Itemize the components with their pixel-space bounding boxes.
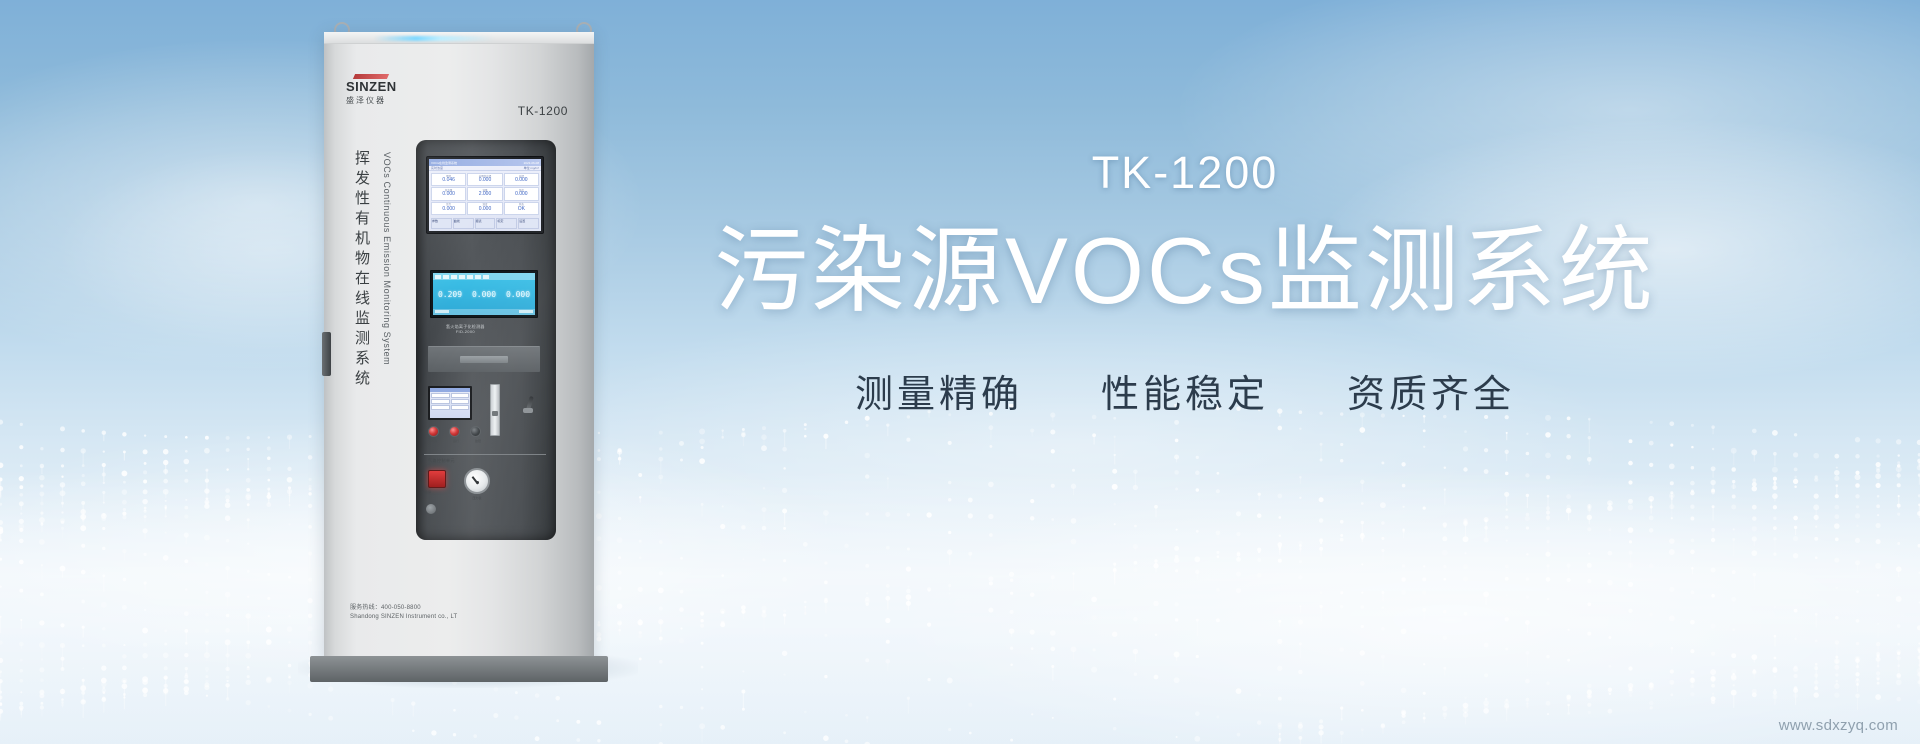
cabinet-footer-text: 服务热线：400-050-8800 Shandong SINZEN Instru… [350,604,457,622]
lamp-label-1: 电源 [426,439,442,443]
indicator-lamp-row [428,426,481,437]
lcd-value-1: 0.209 [438,290,462,299]
company-name-en: Shandong SINZEN Instrument co., LT [350,613,457,622]
pressure-gauge-label: 压力表 [464,496,490,500]
power-indicator-lamp [428,426,439,437]
pressure-gauge [464,468,490,494]
panel-divider [424,454,546,455]
hmi-readout-cell-4: 氧含量0.000 [431,187,466,200]
lamp-label-2: 运行 [448,439,464,443]
run-indicator-lamp [449,426,460,437]
indicator-lamp-labels: 电源运行故障 [426,439,516,443]
hmi-readout-grid: 甲烷0.046非甲烷总烃0.000总烃0.000氧含量0.000流量2.000温… [429,171,541,217]
lamp-label-3: 故障 [470,439,486,443]
hmi-button-5: 设置 [518,218,539,229]
hmi-title-text: VOCs在线监测系统 [431,161,457,165]
fault-indicator-lamp [470,426,481,437]
cabinet-base-plinth [310,656,608,682]
feature-item-1: 测量精确 [855,363,1023,418]
hmi-button-4: 标定 [496,218,517,229]
control-panel: 电源运行故障 气路控制单元 急停 压力表 [424,382,546,524]
rotameter-flowmeter [490,384,500,436]
lcd-value-3: 0.000 [506,290,530,299]
lcd-value-2: 0.000 [472,290,496,299]
hmi-readout-cell-5: 流量2.000 [467,187,502,200]
banner-copy: TK-1200 污染源VOCs监测系统 测量精确性能稳定资质齐全 [660,150,1710,418]
cabinet-model-plate: TK-1200 [518,104,568,118]
hmi-sub-right: 单位 mg/m³ [524,166,539,170]
site-watermark: www.sdxzyq.com [1779,717,1898,734]
hmi-readout-cell-9: 状态OK [504,202,539,215]
hmi-readout-cell-6: 温度0.000 [504,187,539,200]
cabinet-vertical-label-en: VOCs Continuous Emission Monitoring Syst… [382,152,392,365]
model-label: TK-1200 [660,150,1710,195]
vent-port-icon [426,504,436,514]
module-drawer [428,346,540,372]
hmi-button-1: 参数 [431,218,452,229]
cabinet-vertical-label-cn: 挥发性有机物在线监测系统 [354,150,369,390]
emergency-stop-label: 急停 [425,490,431,494]
feature-item-2: 性能稳定 [1101,363,1269,418]
hmi-time-text: 2023-06-08 [524,161,539,165]
feature-item-3: 资质齐全 [1347,363,1515,418]
brand-mark-icon [353,74,389,79]
cabinet-body: SINZEN 盛泽仪器 TK-1200 挥发性有机物在线监测系统 VOCs Co… [324,32,594,660]
brand-logo: SINZEN 盛泽仪器 [346,74,426,106]
hmi-readout-cell-8: 湿度0.000 [467,202,502,215]
brand-name: SINZEN [346,80,426,93]
lcd-value-row: 0.2090.0000.000 [433,280,535,309]
panel-section-label: 气路控制单元 [428,458,455,464]
feature-list: 测量精确性能稳定资质齐全 [660,363,1710,418]
instrument-bay: VOCs在线监测系统 2023-06-08 实时浓度 单位 mg/m³ 甲烷0.… [416,140,556,540]
hmi-readout-cell-3: 总烃0.000 [504,173,539,186]
particle-mesh-decoration [0,404,1920,744]
hmi-sub-left: 实时浓度 [431,166,443,170]
emergency-stop-button [428,470,446,488]
brand-name-cn: 盛泽仪器 [346,95,426,106]
hmi-touchscreen: VOCs在线监测系统 2023-06-08 实时浓度 单位 mg/m³ 甲烷0.… [426,156,544,234]
hmi-button-2: 曲线 [453,218,474,229]
toggle-switch [520,396,536,414]
analyzer-lcd-display: 0.2090.0000.000 [430,270,538,318]
secondary-display [428,386,472,420]
drawer-grip [460,356,508,363]
lcd-status-row [433,309,535,315]
service-hotline: 服务热线：400-050-8800 [350,604,457,613]
hmi-readout-cell-2: 非甲烷总烃0.000 [467,173,502,186]
hmi-title-bar: VOCs在线监测系统 2023-06-08 [429,159,541,166]
hmi-readout-cell-1: 甲烷0.046 [431,173,466,186]
product-image-cabinet: SINZEN 盛泽仪器 TK-1200 挥发性有机物在线监测系统 VOCs Co… [316,22,616,682]
hmi-button-3: 报表 [475,218,496,229]
page-title: 污染源VOCs监测系统 [660,221,1710,321]
lcd-icon-row [433,273,535,280]
hmi-readout-cell-7: 压力0.000 [431,202,466,215]
door-handle [322,332,331,376]
hmi-button-row: 参数曲线报表标定设置 [429,217,541,231]
status-lightbar [374,36,494,41]
product-banner: SINZEN 盛泽仪器 TK-1200 挥发性有机物在线监测系统 VOCs Co… [0,0,1920,744]
lcd-caption: 氢火焰离子化检测器 FID-2000 [446,324,485,334]
